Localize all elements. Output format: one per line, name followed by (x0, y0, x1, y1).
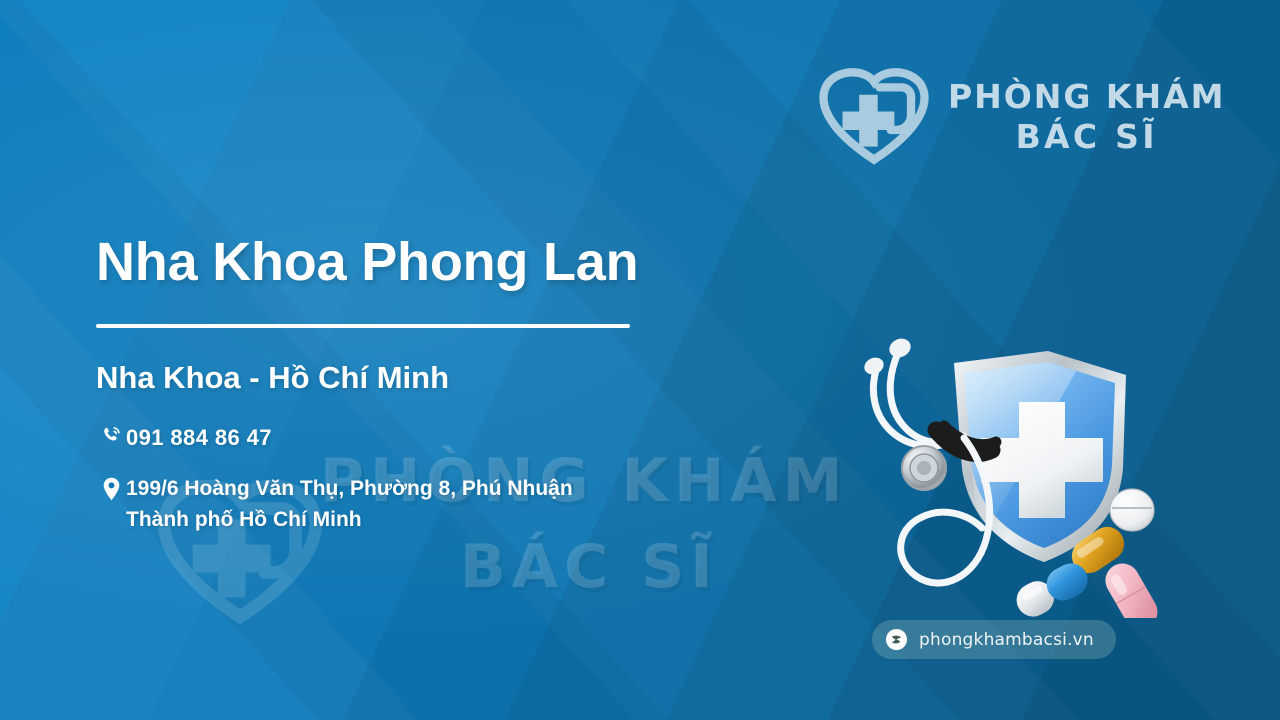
phone-ringing-icon (96, 422, 126, 446)
address-row[interactable]: 199/6 Hoàng Văn Thụ, Phường 8, Phú Nhuận… (96, 474, 796, 535)
stethoscope-shield-pills-illustration (836, 318, 1176, 618)
main-content: Nha Khoa Phong Lan Nha Khoa - Hồ Chí Min… (96, 232, 796, 535)
address-text: 199/6 Hoàng Văn Thụ, Phường 8, Phú Nhuận… (126, 474, 573, 535)
logo-wordmark: PHÒNG KHÁM BÁC SĨ (948, 79, 1225, 154)
map-pin-icon (96, 474, 126, 501)
phone-number: 091 884 86 47 (126, 422, 272, 454)
phone-row[interactable]: 091 884 86 47 (96, 422, 796, 454)
category-location-subtitle: Nha Khoa - Hồ Chí Minh (96, 360, 796, 396)
pink-capsule (1099, 557, 1163, 618)
phongkhambacsi-circle-icon (885, 628, 908, 651)
website-url-text: phongkhambacsi.vn (919, 630, 1094, 650)
business-card-banner: PHÒNG KHÁM BÁC SĨ PHÒNG KHÁM BÁC SĨ Nha … (0, 0, 1280, 720)
page-title: Nha Khoa Phong Lan (96, 232, 796, 292)
logo-line-2: BÁC SĨ (1016, 119, 1158, 155)
brand-logo: PHÒNG KHÁM BÁC SĨ (818, 62, 1178, 172)
logo-line-1: PHÒNG KHÁM (948, 79, 1225, 115)
website-url-badge[interactable]: phongkhambacsi.vn (872, 620, 1116, 659)
white-round-tablet (1110, 489, 1154, 531)
title-divider (96, 324, 630, 328)
logo-mark-icon (818, 67, 930, 167)
